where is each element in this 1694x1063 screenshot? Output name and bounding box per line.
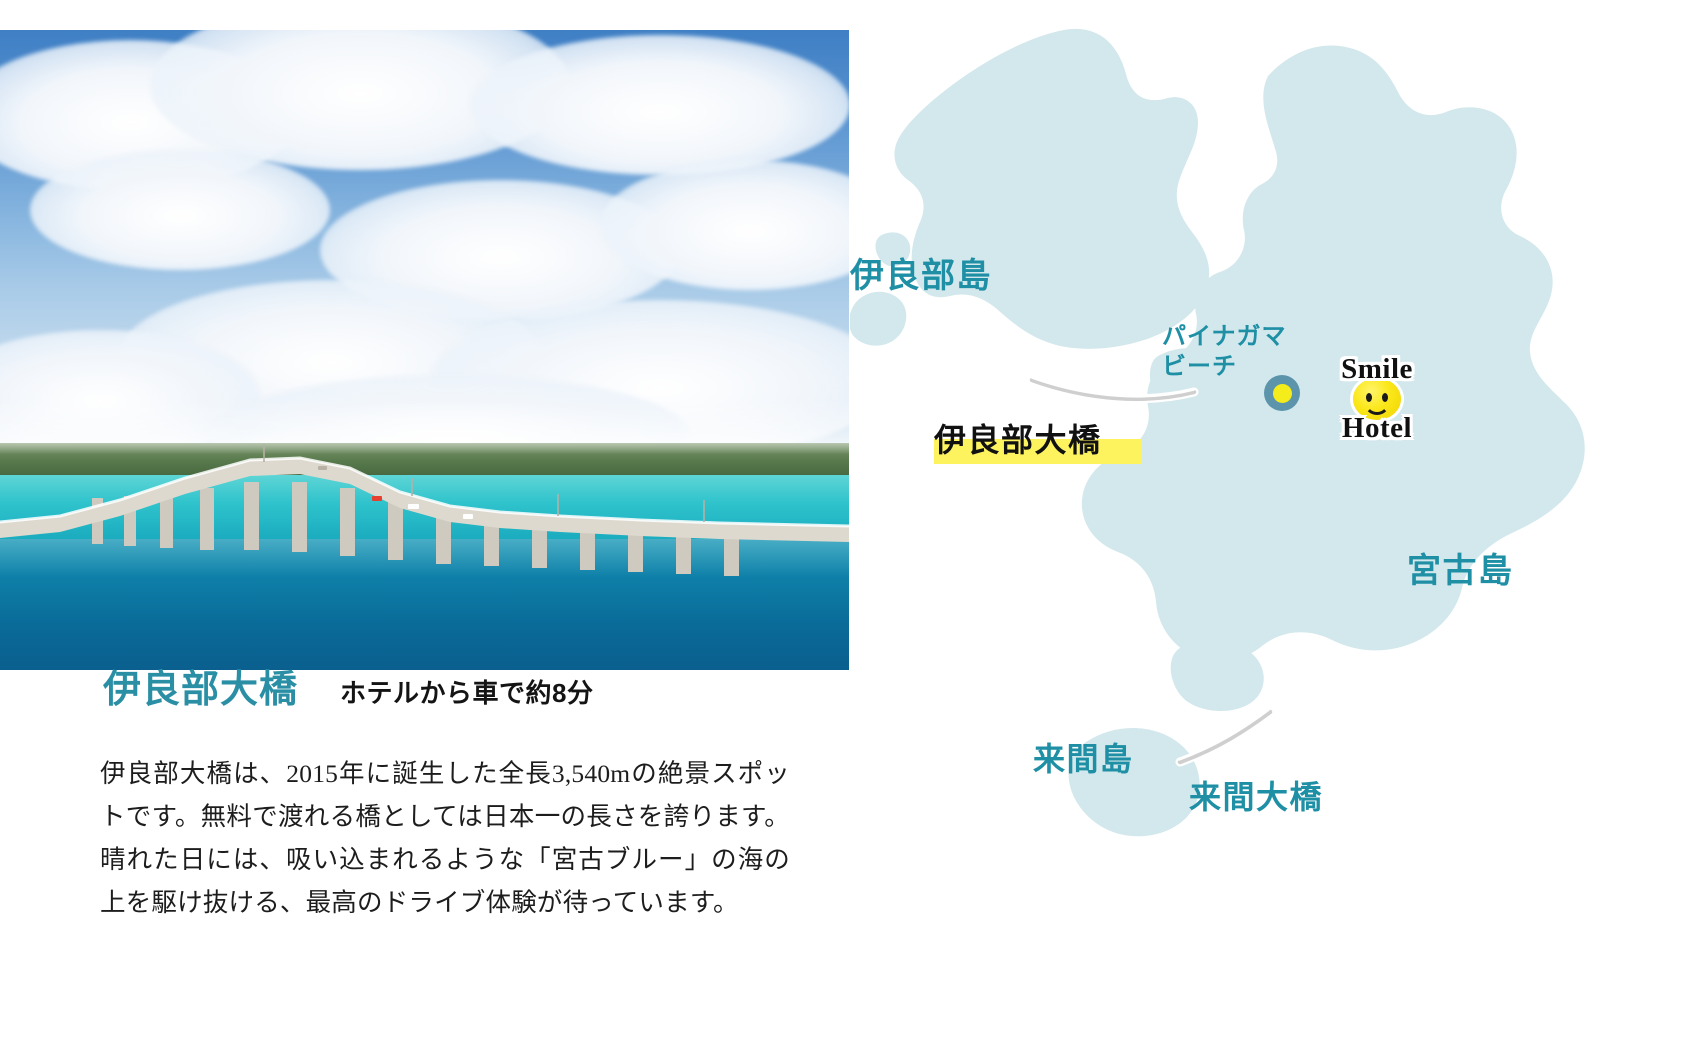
article-column: 伊良部大橋 ホテルから車で約8分 伊良部大橋は、2015年に誕生した全長3,54… [0,0,850,1063]
map-islands-graphic [850,0,1694,1063]
logo-word-hotel: Hotel [1342,414,1412,443]
painagama-line-1: パイナガマ [1162,322,1287,352]
map-label-kurima-island: 来間島 [1033,734,1134,780]
map-label-kurima-bridge: 来間大橋 [1189,772,1323,818]
map-label-irabu-bridge-text: 伊良部大橋 [934,415,1102,461]
irabu-island-shape [894,29,1209,349]
page-title: 伊良部大橋 [103,658,298,713]
kurima-bridge-line [1179,710,1270,762]
map-label-irabu-island: 伊良部島 [850,248,992,297]
map-label-irabu-bridge: 伊良部大橋 [934,415,1102,461]
map-label-painagama-beach: パイナガマ ビーチ [1162,322,1287,382]
map-label-miyako-island: 宮古島 [1407,543,1514,592]
logo-word-smile: Smile [1341,355,1413,384]
painagama-line-2: ビーチ [1162,352,1287,382]
article-body-text: 伊良部大橋は、2015年に誕生した全長3,540mの絶景スポットです。無料で渡れ… [100,752,790,924]
bridge-photo [0,30,849,670]
page-root: 伊良部大橋 ホテルから車で約8分 伊良部大橋は、2015年に誕生した全長3,54… [0,0,1694,1063]
area-map: 伊良部島 宮古島 来間島 来間大橋 パイナガマ ビーチ 伊良部大橋 Smile … [850,0,1694,1063]
smile-hotel-logo: Smile Hotel [1301,355,1453,443]
article-heading-row: 伊良部大橋 ホテルから車で約8分 [103,658,593,713]
hotel-location-pin-icon [1264,375,1300,411]
photo-bridge-graphic [0,30,849,670]
hotel-pin-core [1273,384,1292,403]
shimoji-islet-shape [850,292,906,346]
travel-time-note: ホテルから車で約8分 [340,673,593,710]
